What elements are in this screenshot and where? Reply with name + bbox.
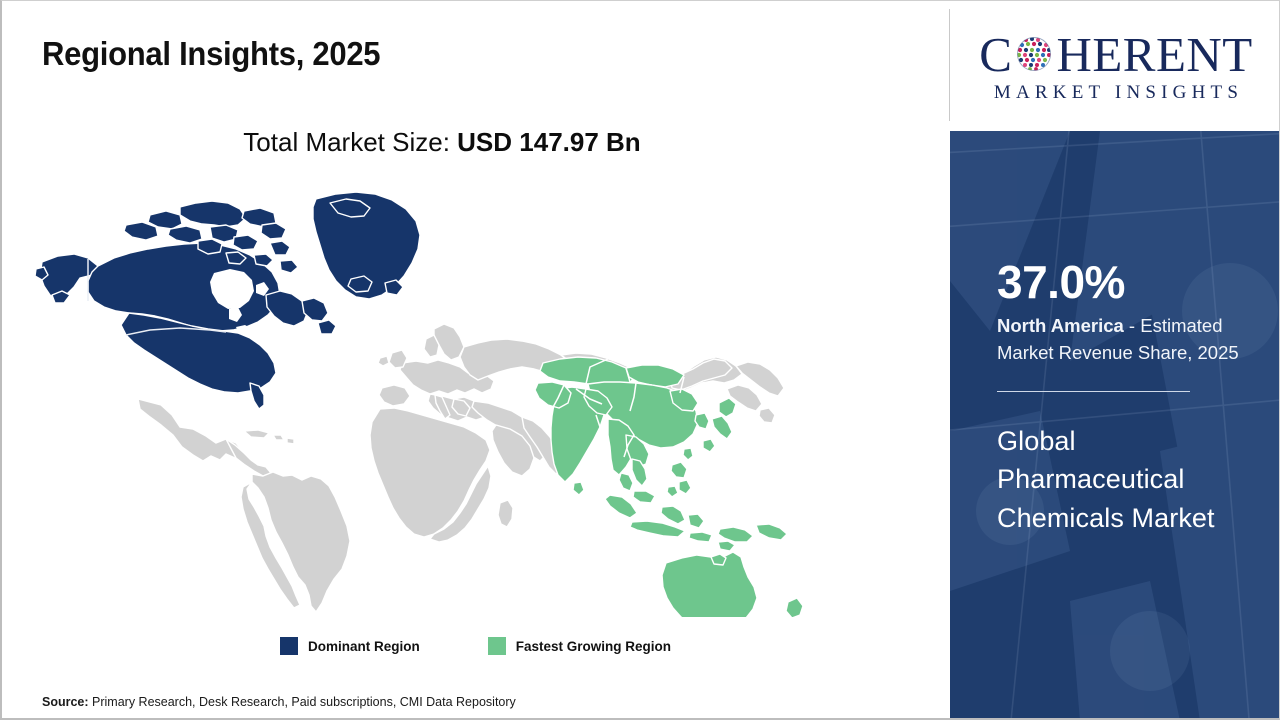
brand-logo: C [950, 1, 1280, 131]
logo-tagline: MARKET INSIGHTS [989, 82, 1243, 104]
square-swatch-green-icon [488, 637, 506, 655]
logo-letters-herent: HERENT [1056, 30, 1252, 79]
world-map [30, 177, 860, 617]
legend-item-dominant-region: Dominant Region [280, 637, 420, 655]
source-row: Source: Primary Research, Desk Research,… [42, 695, 516, 709]
stat-content: 37.0% North America - Estimated Market R… [997, 259, 1267, 537]
map-legend: Dominant Region Fastest Growing Region [2, 637, 949, 655]
map-panel: Regional Insights, 2025 Total Market Siz… [2, 1, 949, 720]
source-label: Source: [42, 695, 89, 709]
regional-insights-infographic: Regional Insights, 2025 Total Market Siz… [0, 0, 1280, 720]
total-market-size-value: USD 147.97 Bn [457, 127, 641, 157]
stat-region-name: North America [997, 315, 1124, 336]
legend-label-fastest-growing-region: Fastest Growing Region [516, 639, 671, 654]
logo-letter-c: C [979, 30, 1012, 79]
legend-label-dominant-region: Dominant Region [308, 639, 420, 654]
page-title: Regional Insights, 2025 [42, 35, 380, 73]
stat-divider [997, 391, 1190, 393]
stat-percent-value: 37.0% [997, 259, 1267, 306]
world-map-svg [30, 177, 860, 617]
source-text: Primary Research, Desk Research, Paid su… [89, 695, 516, 709]
total-market-size-label: Total Market Size: [243, 127, 457, 157]
stat-panel: 37.0% North America - Estimated Market R… [950, 131, 1280, 720]
side-panel: C [950, 1, 1280, 720]
stat-caption: North America - Estimated Market Revenue… [997, 312, 1261, 367]
total-market-size: Total Market Size: USD 147.97 Bn [2, 127, 882, 158]
logo-divider [949, 9, 950, 121]
logo-wordmark: C [979, 28, 1252, 80]
square-swatch-navy-icon [280, 637, 298, 655]
globe-dot-grid-icon [1014, 34, 1054, 74]
market-name: Global Pharmaceutical Chemicals Market [997, 422, 1265, 537]
map-region-asia-pacific [535, 357, 809, 617]
legend-item-fastest-growing-region: Fastest Growing Region [488, 637, 671, 655]
